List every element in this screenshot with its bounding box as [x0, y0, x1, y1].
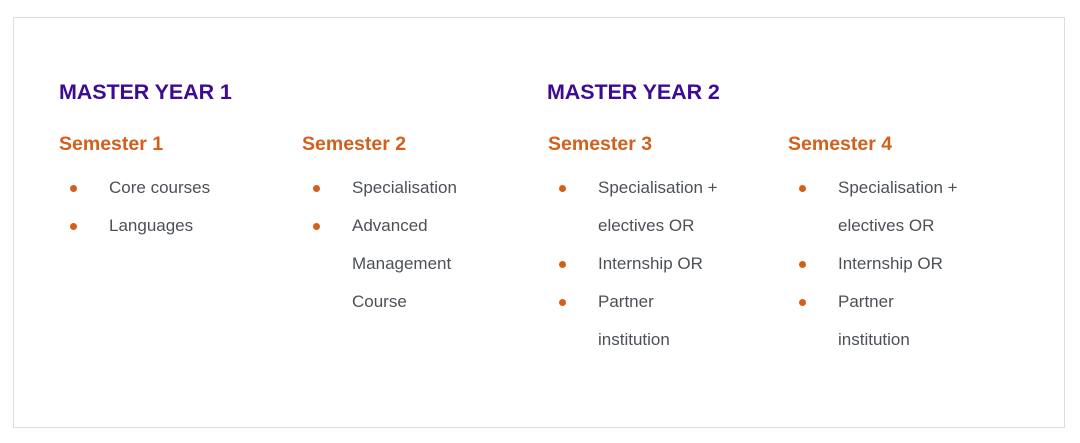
bullet-icon	[799, 261, 806, 268]
list-item: Core courses	[59, 169, 237, 207]
year-headers: MASTER YEAR 1 MASTER YEAR 2	[14, 18, 1064, 60]
bullet-icon	[559, 299, 566, 306]
list-item-label: Specialisation	[352, 178, 457, 197]
list-item-label: Internship OR	[838, 254, 943, 273]
list-item: Partner institution	[548, 283, 726, 359]
list-item-label: Specialisation + electives OR	[838, 178, 958, 235]
semester-2-list: Specialisation Advanced Management Cours…	[302, 169, 530, 321]
list-item: Languages	[59, 207, 237, 245]
list-item-label: Advanced Management Course	[352, 216, 451, 311]
bullet-icon	[313, 223, 320, 230]
list-item-label: Partner institution	[598, 292, 670, 349]
list-item-label: Languages	[109, 216, 193, 235]
list-item: Partner institution	[788, 283, 966, 359]
list-item: Specialisation	[302, 169, 480, 207]
list-item-label: Specialisation + electives OR	[598, 178, 718, 235]
list-item: Specialisation + electives OR	[548, 169, 726, 245]
list-item-label: Partner institution	[838, 292, 910, 349]
list-item: Internship OR	[548, 245, 726, 283]
bullet-icon	[559, 261, 566, 268]
curriculum-card: MASTER YEAR 1 MASTER YEAR 2 Semester 1 C…	[13, 17, 1065, 428]
bullet-icon	[559, 185, 566, 192]
year-heading-master-year-1: MASTER YEAR 1	[59, 82, 232, 104]
list-item-label: Internship OR	[598, 254, 703, 273]
semester-heading-2: Semester 2	[302, 135, 530, 155]
semester-4-list: Specialisation + electives OR Internship…	[788, 169, 1016, 359]
semester-column-3: Semester 3 Specialisation + electives OR…	[548, 135, 776, 359]
bullet-icon	[799, 299, 806, 306]
list-item-label: Core courses	[109, 178, 210, 197]
bullet-icon	[70, 223, 77, 230]
semester-column-1: Semester 1 Core courses Languages	[59, 135, 287, 245]
semester-column-2: Semester 2 Specialisation Advanced Manag…	[302, 135, 530, 321]
semester-3-list: Specialisation + electives OR Internship…	[548, 169, 776, 359]
semester-heading-3: Semester 3	[548, 135, 776, 155]
bullet-icon	[70, 185, 77, 192]
semester-1-list: Core courses Languages	[59, 169, 287, 245]
list-item: Specialisation + electives OR	[788, 169, 966, 245]
semester-column-4: Semester 4 Specialisation + electives OR…	[788, 135, 1016, 359]
bullet-icon	[799, 185, 806, 192]
list-item: Internship OR	[788, 245, 966, 283]
year-heading-master-year-2: MASTER YEAR 2	[547, 82, 720, 104]
bullet-icon	[313, 185, 320, 192]
list-item: Advanced Management Course	[302, 207, 480, 321]
semester-heading-1: Semester 1	[59, 135, 287, 155]
semester-heading-4: Semester 4	[788, 135, 1016, 155]
